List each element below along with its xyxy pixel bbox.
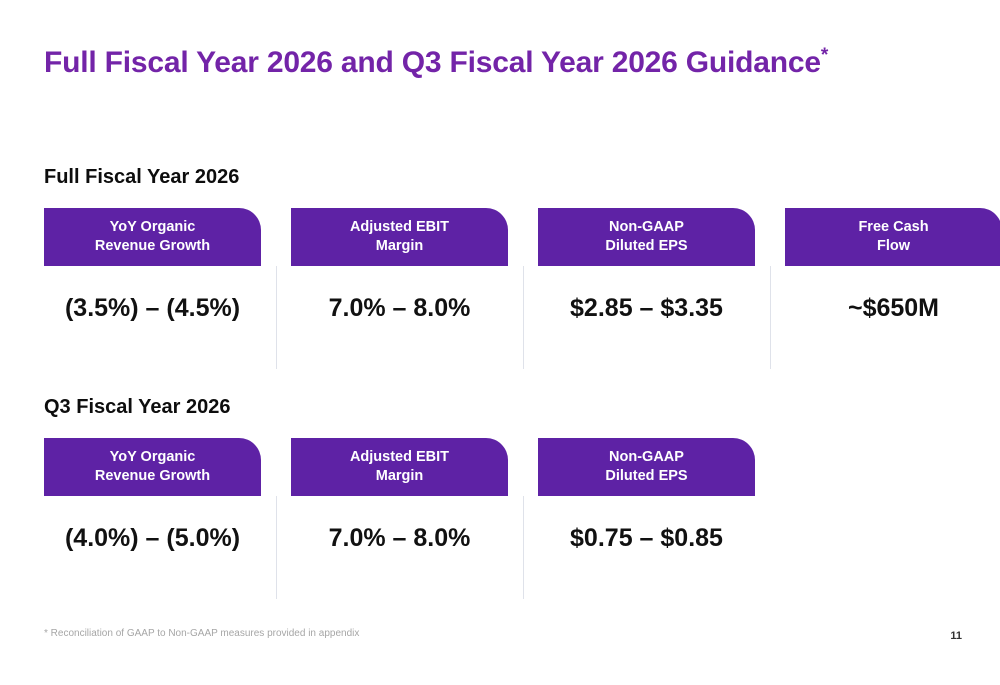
page-title-text: Full Fiscal Year 2026 and Q3 Fiscal Year… [44,46,821,79]
footnote: * Reconciliation of GAAP to Non-GAAP mea… [44,628,359,639]
guidance-slide: Full Fiscal Year 2026 and Q3 Fiscal Year… [0,0,1000,685]
metric-card-header: Adjusted EBIT Margin [291,208,508,266]
metric-card-value: 7.0% – 8.0% [291,266,508,351]
metric-card-header-line1: Non-GAAP [609,448,684,467]
metric-card-header-line1: Adjusted EBIT [350,218,449,237]
metric-card: YoY Organic Revenue Growth (3.5%) – (4.5… [44,208,261,351]
metric-card-header-line2: Flow [877,237,910,256]
metric-cards-row-q3-fiscal-year: YoY Organic Revenue Growth (4.0%) – (5.0… [44,438,755,581]
section-heading-full-fiscal-year: Full Fiscal Year 2026 [44,166,239,189]
metric-card-header-line2: Diluted EPS [605,467,687,486]
metric-card-header-line1: Non-GAAP [609,218,684,237]
metric-card-header: Free Cash Flow [785,208,1000,266]
metric-card-value: ~$650M [785,266,1000,351]
metric-card-header-line2: Revenue Growth [95,467,210,486]
metric-card: Non-GAAP Diluted EPS $0.75 – $0.85 [538,438,755,581]
metric-card-header-line2: Revenue Growth [95,237,210,256]
metric-card: Non-GAAP Diluted EPS $2.85 – $3.35 [538,208,755,351]
metric-card-header-line1: Adjusted EBIT [350,448,449,467]
page-title: Full Fiscal Year 2026 and Q3 Fiscal Year… [44,46,828,80]
metric-card-header: YoY Organic Revenue Growth [44,438,261,496]
metric-card: Adjusted EBIT Margin 7.0% – 8.0% [291,208,508,351]
metric-card-value: 7.0% – 8.0% [291,496,508,581]
metric-card-value: $0.75 – $0.85 [538,496,755,581]
metric-card-header-line2: Margin [376,237,424,256]
metric-card-header: Non-GAAP Diluted EPS [538,208,755,266]
metric-card: Free Cash Flow ~$650M [785,208,1000,351]
metric-card-header-line1: YoY Organic [110,448,196,467]
metric-card-value: $2.85 – $3.35 [538,266,755,351]
metric-card-header: YoY Organic Revenue Growth [44,208,261,266]
metric-card-header: Adjusted EBIT Margin [291,438,508,496]
metric-card-header-line2: Margin [376,467,424,486]
title-footnote-marker: * [821,45,828,66]
metric-card-value: (3.5%) – (4.5%) [44,266,261,351]
metric-card-header-line1: Free Cash [858,218,928,237]
metric-card-header-line2: Diluted EPS [605,237,687,256]
metric-card-header: Non-GAAP Diluted EPS [538,438,755,496]
metric-card-header-line1: YoY Organic [110,218,196,237]
page-number: 11 [950,630,962,642]
metric-card: Adjusted EBIT Margin 7.0% – 8.0% [291,438,508,581]
metric-cards-row-full-fiscal-year: YoY Organic Revenue Growth (3.5%) – (4.5… [44,208,1000,351]
metric-card-value: (4.0%) – (5.0%) [44,496,261,581]
metric-card: YoY Organic Revenue Growth (4.0%) – (5.0… [44,438,261,581]
section-heading-q3-fiscal-year: Q3 Fiscal Year 2026 [44,396,230,419]
